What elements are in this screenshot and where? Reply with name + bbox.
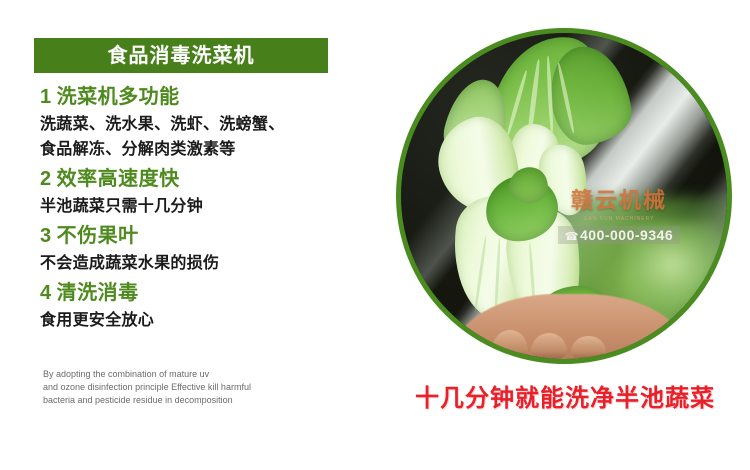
left-content-column: 食品消毒洗菜机 1洗菜机多功能 洗蔬菜、洗水果、洗虾、洗螃蟹、 食品解冻、分解肉… bbox=[0, 0, 390, 470]
feature-3-heading-text: 不伤果叶 bbox=[57, 225, 139, 247]
english-line-1: By adopting the combination of mature uv bbox=[43, 368, 333, 381]
feature-3-number: 3 bbox=[40, 225, 52, 247]
english-description: By adopting the combination of mature uv… bbox=[43, 368, 333, 407]
feature-item-4: 4清洗消毒 食用更安全放心 bbox=[40, 278, 360, 333]
feature-4-heading-text: 清洗消毒 bbox=[57, 282, 139, 304]
feature-2-number: 2 bbox=[40, 168, 52, 190]
feature-item-2: 2效率高速度快 半池蔬菜只需十几分钟 bbox=[40, 164, 360, 219]
page-title: 食品消毒洗菜机 bbox=[108, 46, 255, 66]
feature-list: 1洗菜机多功能 洗蔬菜、洗水果、洗虾、洗螃蟹、 食品解冻、分解肉类激素等 2效率… bbox=[40, 82, 360, 335]
product-title-bar: 食品消毒洗菜机 bbox=[34, 38, 328, 73]
feature-1-body-line-1: 洗蔬菜、洗水果、洗虾、洗螃蟹、 bbox=[40, 112, 360, 137]
product-photo-circle: 赣云机械 GAN YUN MACHINERY ☎400-000-9346 bbox=[396, 28, 732, 364]
feature-1-heading: 1洗菜机多功能 bbox=[40, 82, 360, 112]
feature-1-number: 1 bbox=[40, 86, 52, 108]
feature-item-1: 1洗菜机多功能 洗蔬菜、洗水果、洗虾、洗螃蟹、 食品解冻、分解肉类激素等 bbox=[40, 82, 360, 162]
feature-1-body-line-2: 食品解冻、分解肉类激素等 bbox=[40, 137, 360, 162]
feature-3-body-line-1: 不会造成蔬菜水果的损伤 bbox=[40, 251, 360, 276]
feature-3-heading: 3不伤果叶 bbox=[40, 221, 360, 251]
product-photo: 赣云机械 GAN YUN MACHINERY ☎400-000-9346 bbox=[401, 33, 727, 359]
bok-choy-vegetable bbox=[401, 33, 727, 359]
feature-1-heading-text: 洗菜机多功能 bbox=[57, 86, 180, 108]
red-caption: 十几分钟就能洗净半池蔬菜 bbox=[400, 378, 730, 413]
feature-4-number: 4 bbox=[40, 282, 52, 304]
feature-item-3: 3不伤果叶 不会造成蔬菜水果的损伤 bbox=[40, 221, 360, 276]
feature-4-heading: 4清洗消毒 bbox=[40, 278, 360, 308]
feature-4-body-line-1: 食用更安全放心 bbox=[40, 308, 360, 333]
feature-2-heading-text: 效率高速度快 bbox=[57, 168, 180, 190]
english-line-2: and ozone disinfection principle Effecti… bbox=[43, 381, 333, 394]
english-line-3: bacteria and pesticide residue in decomp… bbox=[43, 394, 333, 407]
feature-2-body-line-1: 半池蔬菜只需十几分钟 bbox=[40, 194, 360, 219]
promo-banner: 食品消毒洗菜机 1洗菜机多功能 洗蔬菜、洗水果、洗虾、洗螃蟹、 食品解冻、分解肉… bbox=[0, 0, 750, 470]
feature-2-heading: 2效率高速度快 bbox=[40, 164, 360, 194]
